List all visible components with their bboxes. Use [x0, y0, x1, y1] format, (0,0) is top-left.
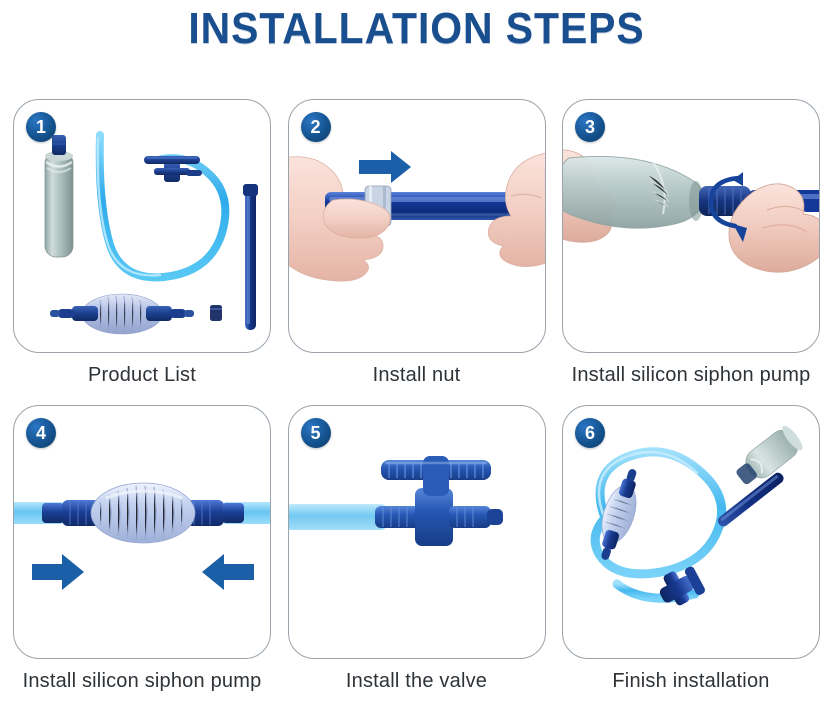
- valve-part: [144, 156, 202, 182]
- step-caption-1: Product List: [13, 364, 271, 387]
- step-caption-2: Install nut: [288, 364, 546, 387]
- step-panel-3: 3: [562, 99, 820, 353]
- page-title: INSTALLATION STEPS: [29, 4, 804, 54]
- steps-row-bottom: 4: [13, 405, 820, 693]
- hose-left: [289, 504, 389, 530]
- bulb-pump: [91, 483, 195, 543]
- step-card-1[interactable]: 1: [13, 99, 271, 387]
- step-caption-3: Install silicon siphon pump: [562, 364, 820, 387]
- nut-part: [210, 305, 222, 321]
- step-card-3[interactable]: 3: [562, 99, 820, 387]
- step-caption-5: Install the valve: [288, 670, 546, 693]
- valve-illustration: [289, 406, 546, 659]
- step-panel-4: 4: [13, 405, 271, 659]
- steps-grid: 1: [0, 99, 833, 693]
- step-card-6[interactable]: 6: [562, 405, 820, 693]
- step-caption-6: Finish installation: [562, 670, 820, 693]
- arrow-rotate-head2: [733, 172, 743, 186]
- step-panel-5: 5: [288, 405, 546, 659]
- step-badge-3: 3: [575, 112, 605, 142]
- install-siphon-pump-illustration: [563, 100, 820, 353]
- install-nut-illustration: [289, 100, 546, 353]
- step-panel-1: 1: [13, 99, 271, 353]
- valve-handle: [381, 456, 491, 496]
- gravel-tube: [563, 156, 703, 228]
- arrow-right-icon: [32, 554, 84, 590]
- steps-row-top: 1: [13, 99, 820, 387]
- step-panel-2: 2: [288, 99, 546, 353]
- finished-assembly-illustration: [563, 406, 820, 659]
- step-badge-6: 6: [575, 418, 605, 448]
- step-card-5[interactable]: 5: [288, 405, 546, 693]
- step-card-2[interactable]: 2: [288, 99, 546, 387]
- step-caption-4: Install silicon siphon pump: [13, 670, 271, 693]
- step-card-4[interactable]: 4: [13, 405, 271, 693]
- valve-body: [375, 488, 503, 546]
- step-badge-5: 5: [301, 418, 331, 448]
- bulb-pump-part: [50, 294, 194, 334]
- arrow-right-icon: [359, 151, 411, 183]
- step-badge-1: 1: [26, 112, 56, 142]
- step-badge-2: 2: [301, 112, 331, 142]
- arrow-left-icon: [202, 554, 254, 590]
- rigid-tube-part: [243, 184, 258, 330]
- product-list-illustration: [14, 100, 271, 353]
- step-panel-6: 6: [562, 405, 820, 659]
- step-badge-4: 4: [26, 418, 56, 448]
- gravel-tube-part: [45, 135, 73, 257]
- bulb-pump-inline-illustration: [14, 406, 271, 659]
